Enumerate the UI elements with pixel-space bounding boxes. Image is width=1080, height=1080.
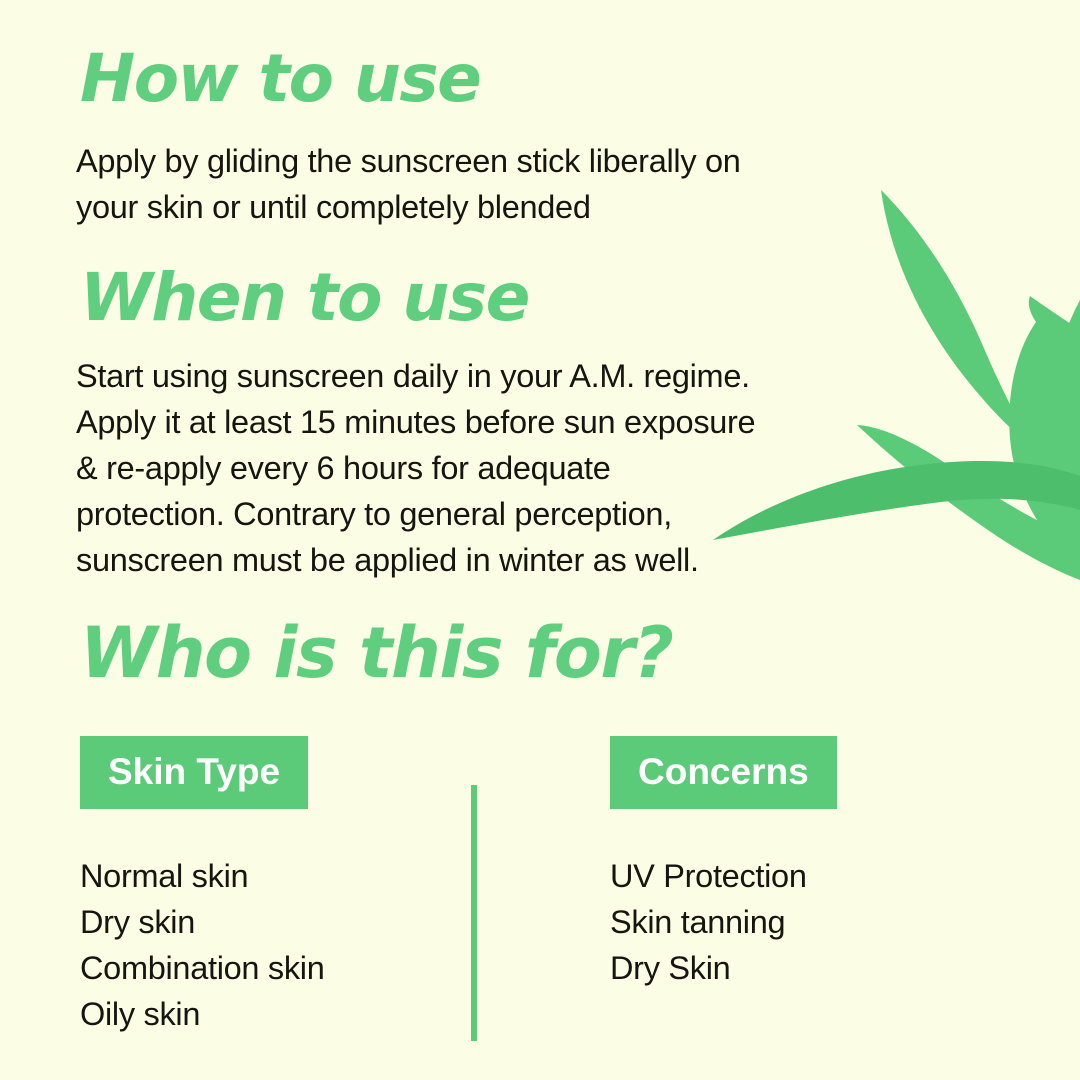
list-item: Skin tanning: [610, 899, 837, 945]
column-skin-type: Skin Type Normal skin Dry skin Combinati…: [80, 736, 325, 1037]
list-concerns: UV Protection Skin tanning Dry Skin: [610, 853, 837, 991]
list-item: Normal skin: [80, 853, 325, 899]
list-item: UV Protection: [610, 853, 837, 899]
list-skin-type: Normal skin Dry skin Combination skin Oi…: [80, 853, 325, 1037]
badge-concerns: Concerns: [610, 736, 837, 809]
heading-when-to-use: When to use: [80, 265, 529, 331]
list-item: Dry skin: [80, 899, 325, 945]
poster-canvas: How to use Apply by gliding the sunscree…: [0, 0, 1080, 1080]
heading-who-is-this-for: Who is this for?: [80, 618, 673, 688]
list-item: Oily skin: [80, 991, 325, 1037]
list-item: Combination skin: [80, 945, 325, 991]
list-item: Dry Skin: [610, 945, 837, 991]
heading-how-to-use: How to use: [80, 46, 480, 112]
body-when-to-use: Start using sunscreen daily in your A.M.…: [76, 353, 906, 583]
badge-skin-type: Skin Type: [80, 736, 308, 809]
body-how-to-use: Apply by gliding the sunscreen stick lib…: [76, 138, 906, 230]
column-concerns: Concerns UV Protection Skin tanning Dry …: [610, 736, 837, 991]
column-divider: [471, 785, 477, 1041]
